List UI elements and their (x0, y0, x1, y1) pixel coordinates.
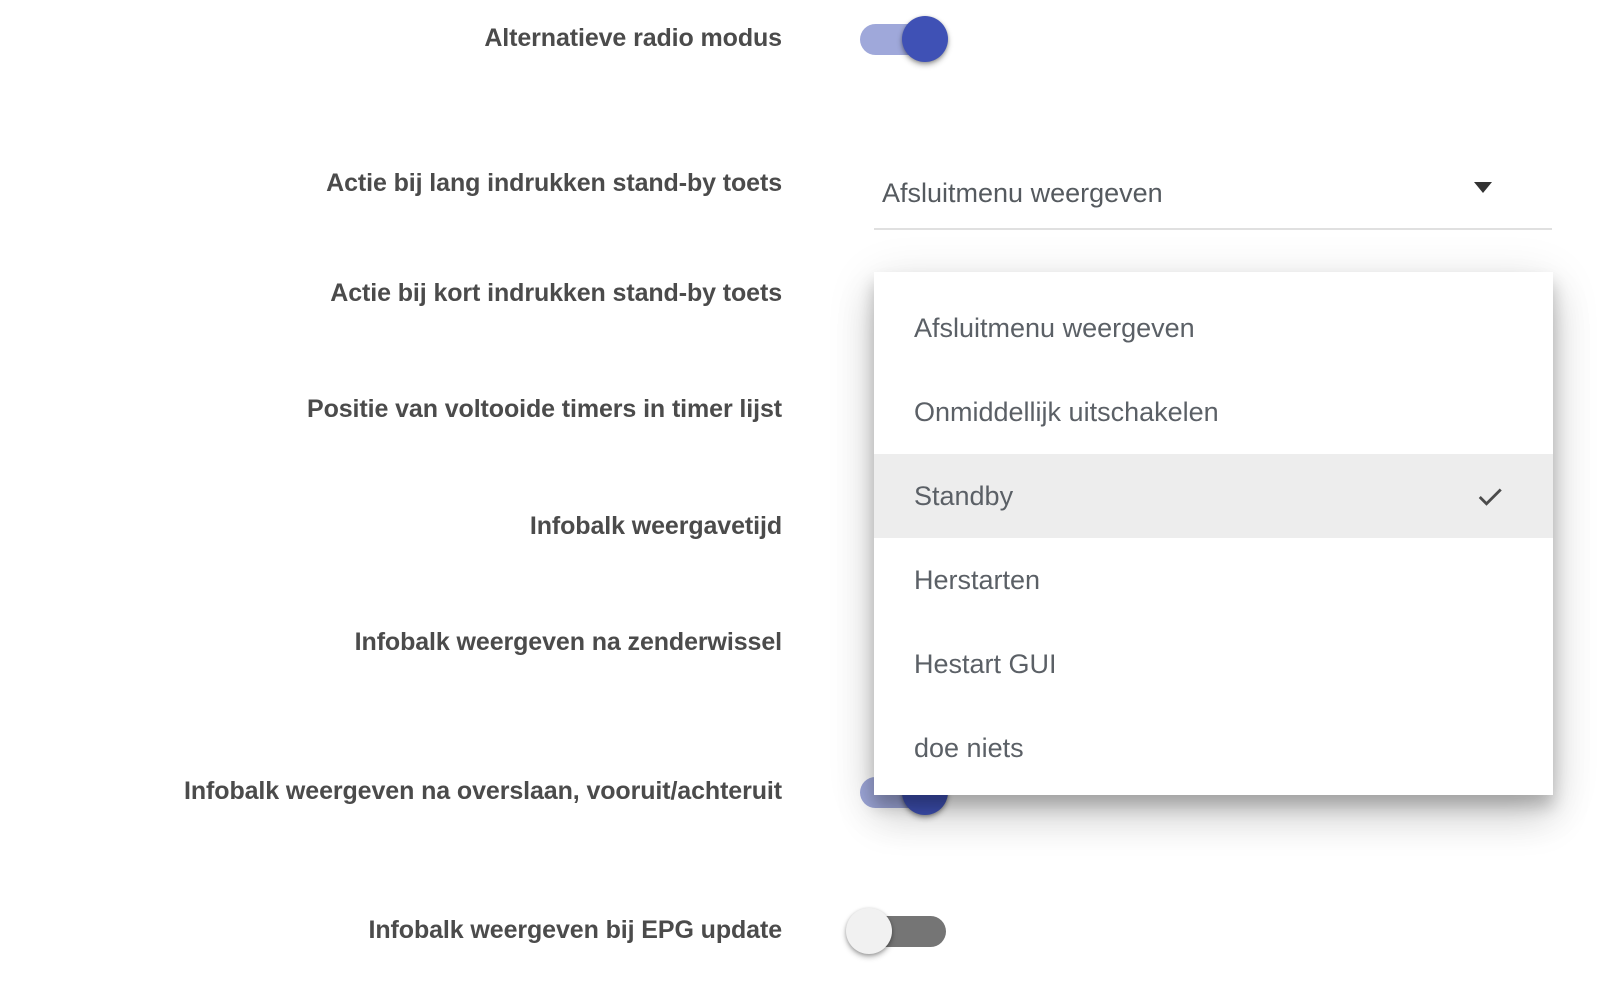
dropdown-option[interactable]: Afsluitmenu weergeven (874, 286, 1553, 370)
setting-label: Alternatieve radio modus (0, 25, 782, 53)
setting-label: Actie bij lang indrukken stand-by toets (0, 170, 782, 198)
dropdown-option-label: Afsluitmenu weergeven (914, 313, 1475, 344)
dropdown-option-label: Onmiddellijk uitschakelen (914, 397, 1475, 428)
setting-control (846, 16, 956, 62)
setting-label: Infobalk weergavetijd (0, 513, 782, 541)
setting-label: Actie bij kort indrukken stand-by toets (0, 280, 782, 308)
setting-row-infobalk-epg-update: Infobalk weergeven bij EPG update (0, 908, 1619, 954)
settings-screen: Alternatieve radio modus Actie bij lang … (0, 0, 1619, 983)
select-value: Afsluitmenu weergeven (874, 178, 1163, 209)
dropdown-option[interactable]: doe niets (874, 706, 1553, 790)
setting-control (846, 908, 956, 954)
check-icon (1475, 481, 1505, 511)
select-lang-indrukken[interactable]: Afsluitmenu weergeven (874, 158, 1552, 230)
setting-label: Infobalk weergeven bij EPG update (0, 917, 782, 945)
dropdown-option-selected[interactable]: Standby (874, 454, 1553, 538)
setting-label: Infobalk weergeven na overslaan, vooruit… (0, 778, 782, 806)
toggle-knob (846, 908, 892, 954)
toggle-knob (902, 16, 948, 62)
setting-label: Infobalk weergeven na zenderwissel (0, 629, 782, 657)
dropdown-option-label: Hestart GUI (914, 649, 1475, 680)
toggle-infobalk-epg-update[interactable] (846, 908, 956, 954)
dropdown-option[interactable]: Hestart GUI (874, 622, 1553, 706)
dropdown-menu-standby-actie[interactable]: Afsluitmenu weergeven Onmiddellijk uitsc… (874, 272, 1553, 795)
toggle-alternatieve-radio-modus[interactable] (846, 16, 956, 62)
chevron-down-icon (1474, 182, 1492, 193)
setting-row-alternatieve-radio-modus: Alternatieve radio modus (0, 16, 1619, 62)
dropdown-option-label: Standby (914, 481, 1475, 512)
dropdown-option-label: Herstarten (914, 565, 1475, 596)
dropdown-option[interactable]: Onmiddellijk uitschakelen (874, 370, 1553, 454)
dropdown-option[interactable]: Herstarten (874, 538, 1553, 622)
setting-label: Positie van voltooide timers in timer li… (0, 396, 782, 424)
dropdown-option-label: doe niets (914, 733, 1475, 764)
